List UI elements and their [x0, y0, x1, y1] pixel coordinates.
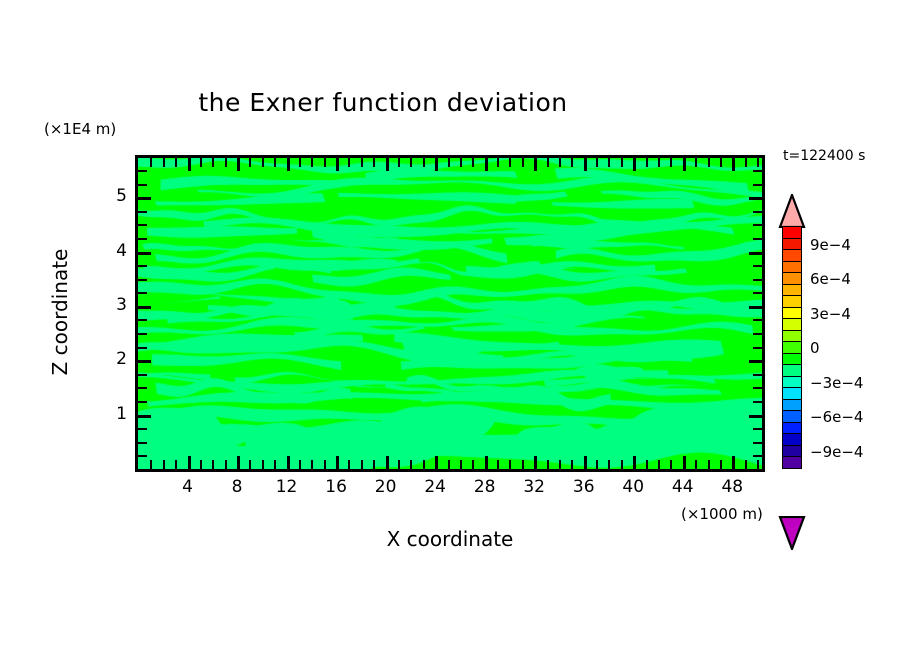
colorbar-over-arrow-icon	[777, 194, 807, 228]
colorbar-tick-label: 9e−4	[810, 236, 851, 254]
y-tick-label: 5	[97, 186, 127, 206]
x-tick-label: 32	[514, 477, 554, 497]
x-axis-unit-label: (×1000 m)	[681, 505, 763, 523]
x-tick-label: 28	[465, 477, 505, 497]
x-tick-label: 16	[316, 477, 356, 497]
contour-field	[138, 158, 762, 469]
colorbar-tick-label: 3e−4	[810, 305, 851, 323]
x-tick-label: 12	[267, 477, 307, 497]
x-tick-label: 8	[217, 477, 257, 497]
contour-plot-area[interactable]	[135, 155, 765, 472]
colorbar-tick-label: −9e−4	[810, 443, 863, 461]
time-annotation: t=122400 s	[783, 148, 865, 164]
x-axis-title: X coordinate	[135, 527, 765, 551]
colorbar[interactable]: 9e−46e−43e−40−3e−4−6e−4−9e−4	[776, 196, 896, 516]
x-tick-label: 48	[712, 477, 752, 497]
x-tick-label: 44	[663, 477, 703, 497]
colorbar-segment	[782, 456, 802, 469]
colorbar-tick-label: 6e−4	[810, 270, 851, 288]
y-tick-label: 3	[97, 295, 127, 315]
x-tick-label: 24	[415, 477, 455, 497]
colorbar-tick-label: −6e−4	[810, 408, 863, 426]
x-tick-label: 36	[564, 477, 604, 497]
x-tick-label: 4	[168, 477, 208, 497]
page-title: the Exner function deviation	[0, 88, 766, 117]
x-tick-label: 20	[366, 477, 406, 497]
x-tick-label: 40	[613, 477, 653, 497]
y-axis-unit-label: (×1E4 m)	[44, 120, 116, 138]
colorbar-tick-label: 0	[810, 339, 820, 357]
colorbar-tick-label: −3e−4	[810, 374, 863, 392]
colorbar-under-arrow-icon	[777, 516, 807, 550]
y-axis-title: Z coordinate	[48, 212, 72, 412]
y-tick-label: 4	[97, 241, 127, 261]
y-tick-label: 2	[97, 349, 127, 369]
colorbar-segments	[782, 226, 802, 468]
y-tick-label: 1	[97, 404, 127, 424]
